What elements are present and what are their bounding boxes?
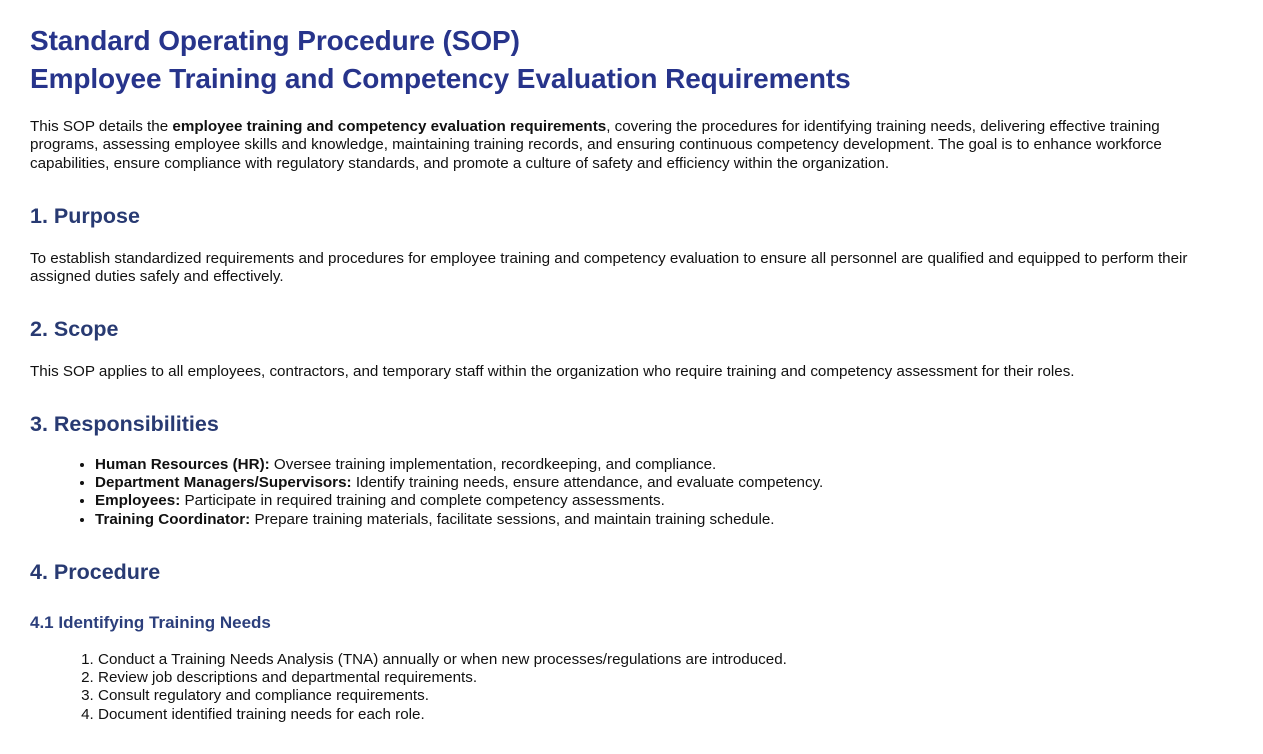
section-heading-responsibilities: 3. Responsibilities [30,411,1233,438]
list-item: Human Resources (HR): Oversee training i… [95,456,1233,474]
document-page: Standard Operating Procedure (SOP) Emplo… [0,0,1263,754]
list-item: Conduct a Training Needs Analysis (TNA) … [98,651,1233,669]
list-item: Employees: Participate in required train… [95,492,1233,510]
section-heading-procedure: 4. Procedure [30,559,1233,586]
subsection-heading-identifying-training-needs: 4.1 Identifying Training Needs [30,612,1233,633]
list-item-lead: Department Managers/Supervisors: [95,474,352,491]
list-item-text: Oversee training implementation, recordk… [270,456,717,473]
intro-paragraph: This SOP details the employee training a… [30,118,1226,173]
list-item: Department Managers/Supervisors: Identif… [95,474,1233,492]
subsection-heading-training-program-development: 4.2 Training Program Development and Del… [30,750,1233,754]
list-item-text: Prepare training materials, facilitate s… [250,511,774,528]
intro-text-before: This SOP details the [30,118,172,135]
section-heading-purpose: 1. Purpose [30,203,1233,230]
identifying-training-needs-steps: Conduct a Training Needs Analysis (TNA) … [30,651,1233,724]
list-item-lead: Training Coordinator: [95,511,250,528]
list-item-text: Participate in required training and com… [180,492,665,509]
list-item: Training Coordinator: Prepare training m… [95,511,1233,529]
section-paragraph-purpose: To establish standardized requirements a… [30,250,1226,286]
list-item: Document identified training needs for e… [98,706,1233,724]
responsibilities-list: Human Resources (HR): Oversee training i… [30,456,1233,529]
document-title-line-1: Standard Operating Procedure (SOP) [30,22,1233,60]
list-item: Review job descriptions and departmental… [98,669,1233,687]
list-item-lead: Human Resources (HR): [95,456,270,473]
intro-text-bold: employee training and competency evaluat… [172,118,606,135]
list-item-text: Identify training needs, ensure attendan… [352,474,824,491]
document-content: Standard Operating Procedure (SOP) Emplo… [0,0,1263,754]
list-item: Consult regulatory and compliance requir… [98,687,1233,705]
list-item-lead: Employees: [95,492,180,509]
section-paragraph-scope: This SOP applies to all employees, contr… [30,363,1226,381]
section-heading-scope: 2. Scope [30,316,1233,343]
document-title: Standard Operating Procedure (SOP) Emplo… [30,22,1233,98]
document-title-line-2: Employee Training and Competency Evaluat… [30,60,1233,98]
